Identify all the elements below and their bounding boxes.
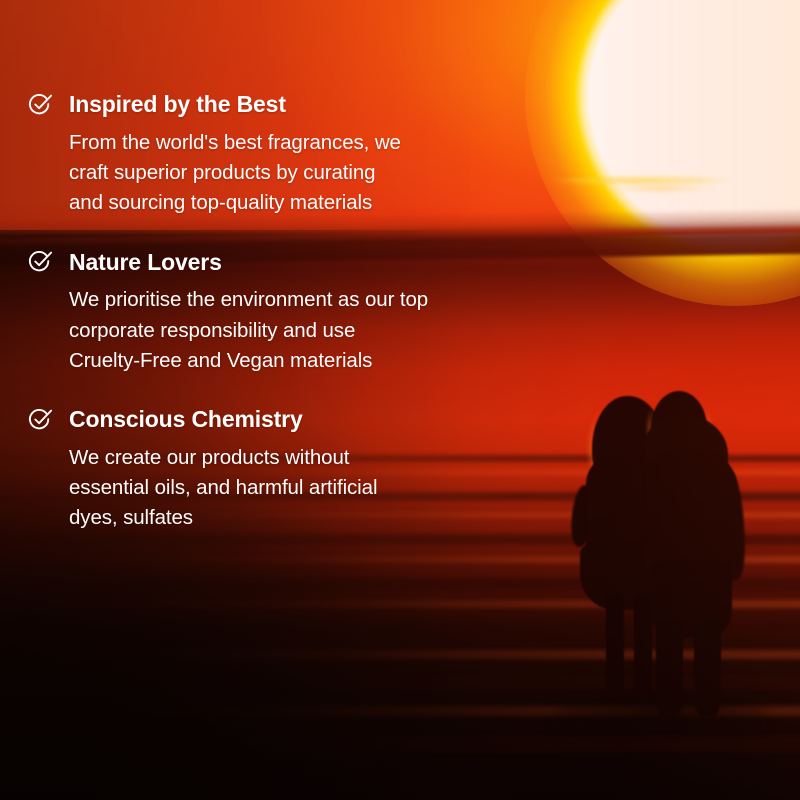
- feature-description-line: and sourcing top-quality materials: [69, 188, 520, 218]
- feature-description-line: corporate responsibility and use: [69, 316, 520, 346]
- feature-item: Conscious ChemistryWe create our product…: [27, 407, 520, 533]
- check-circle-icon: [27, 407, 53, 433]
- feature-title: Nature Lovers: [69, 250, 222, 275]
- feature-title: Inspired by the Best: [69, 92, 286, 117]
- feature-description: We prioritise the environment as our top…: [27, 285, 520, 375]
- feature-description-line: We prioritise the environment as our top: [69, 285, 520, 315]
- feature-description-line: Cruelty-Free and Vegan materials: [69, 346, 520, 376]
- check-circle-icon: [27, 249, 53, 275]
- feature-description-line: dyes, sulfates: [69, 503, 520, 533]
- feature-heading-row: Nature Lovers: [27, 249, 520, 275]
- feature-description-line: From the world's best fragrances, we: [69, 128, 520, 158]
- feature-description: From the world's best fragrances, wecraf…: [27, 128, 520, 218]
- feature-description-line: We create our products without: [69, 443, 520, 473]
- feature-heading-row: Inspired by the Best: [27, 92, 520, 118]
- sunset-values-banner: Inspired by the BestFrom the world's bes…: [0, 0, 800, 800]
- feature-title: Conscious Chemistry: [69, 407, 303, 432]
- feature-heading-row: Conscious Chemistry: [27, 407, 520, 433]
- feature-item: Nature LoversWe prioritise the environme…: [27, 249, 520, 375]
- feature-description: We create our products withoutessential …: [27, 443, 520, 533]
- feature-item: Inspired by the BestFrom the world's bes…: [27, 92, 520, 218]
- feature-list: Inspired by the BestFrom the world's bes…: [0, 0, 520, 533]
- check-circle-icon: [27, 92, 53, 118]
- feature-description-line: craft superior products by curating: [69, 158, 520, 188]
- feature-description-line: essential oils, and harmful artificial: [69, 473, 520, 503]
